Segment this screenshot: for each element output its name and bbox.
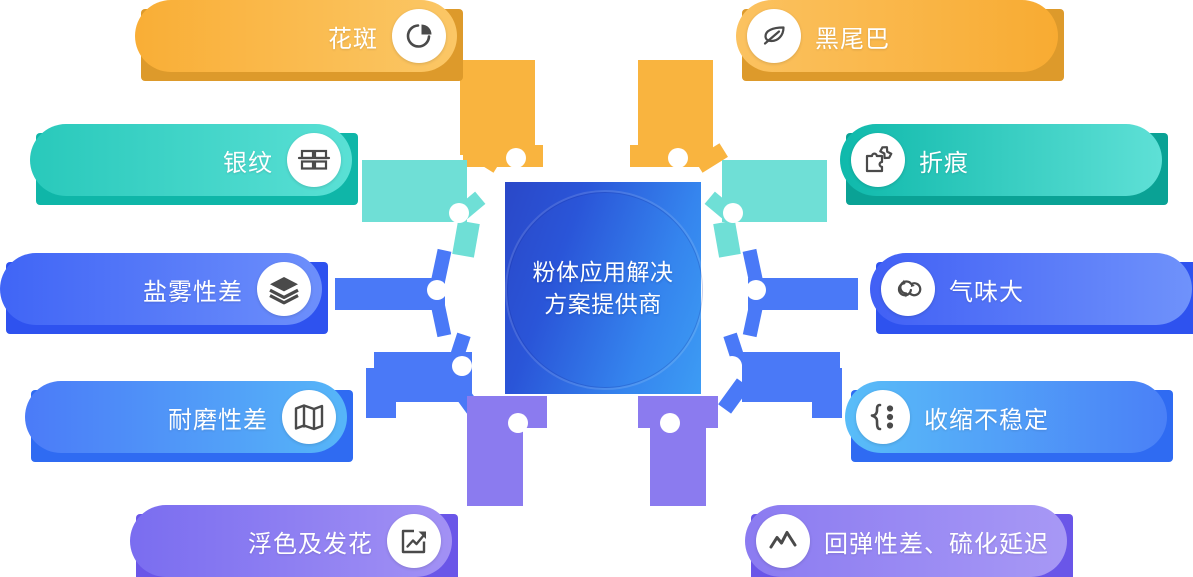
label-pill-right-1[interactable]: 黑尾巴 [736, 0, 1058, 72]
infographic-canvas: 粉体应用解决 方案提供商 花斑银纹盐雾性差耐磨性差浮色及发花黑尾巴折痕气味大收缩… [0, 0, 1193, 577]
connector-right-5-dot [660, 413, 680, 433]
pill-label: 花斑 [328, 19, 378, 54]
connector-right-4-arm2 [812, 368, 842, 418]
connector-left-4-dot [452, 356, 472, 376]
connector-left-3-tip2 [431, 303, 451, 337]
connector-right-2-tip2 [713, 220, 741, 257]
pill-body[interactable]: 银纹 [30, 124, 352, 196]
pie-chart-icon [392, 9, 446, 63]
connector-right-3-dot [746, 280, 766, 300]
pill-body[interactable]: 气味大 [870, 253, 1192, 325]
pill-body[interactable]: 耐磨性差 [25, 381, 347, 453]
center-node: 粉体应用解决 方案提供商 [505, 182, 701, 394]
puzzle-icon [851, 133, 905, 187]
pill-label: 耐磨性差 [168, 400, 268, 435]
label-pill-left-1[interactable]: 花斑 [135, 0, 457, 72]
pill-label: 气味大 [949, 272, 1024, 307]
connector-left-2-tip2 [452, 220, 480, 257]
layers-icon [257, 262, 311, 316]
pill-body[interactable]: 浮色及发花 [130, 505, 452, 577]
line-chart-icon [756, 514, 810, 568]
label-pill-left-4[interactable]: 耐磨性差 [25, 381, 347, 453]
connector-left-5-dot [508, 413, 528, 433]
center-node-label: 粉体应用解决 方案提供商 [533, 256, 674, 320]
pill-label: 黑尾巴 [815, 19, 890, 54]
pill-body[interactable]: 收缩不稳定 [845, 381, 1167, 453]
connector-left-1-stem [460, 60, 535, 155]
label-pill-right-3[interactable]: 气味大 [870, 253, 1192, 325]
pill-label: 盐雾性差 [143, 272, 243, 307]
connector-left-3-dot [427, 280, 447, 300]
label-pill-right-4[interactable]: 收缩不稳定 [845, 381, 1167, 453]
connector-right-1-stem [638, 60, 713, 155]
connector-left-5-arm [467, 396, 547, 428]
connector-right-1-dot [668, 148, 688, 168]
label-pill-left-3[interactable]: 盐雾性差 [0, 253, 322, 325]
connector-left-1-dot [506, 148, 526, 168]
connector-left-4-arm2 [366, 368, 396, 418]
label-pill-right-5[interactable]: 回弹性差、硫化延迟 [745, 505, 1067, 577]
pill-body[interactable]: 花斑 [135, 0, 457, 72]
label-pill-right-2[interactable]: 折痕 [840, 124, 1162, 196]
recycle-icon [881, 262, 935, 316]
brick-wall-icon [287, 133, 341, 187]
trend-up-box-icon [387, 514, 441, 568]
pill-label: 收缩不稳定 [924, 400, 1049, 435]
pill-body[interactable]: 黑尾巴 [736, 0, 1058, 72]
connector-right-2-dot [723, 203, 743, 223]
pill-body[interactable]: 折痕 [840, 124, 1162, 196]
pill-label: 银纹 [223, 143, 273, 178]
connector-right-4-dot [722, 356, 742, 376]
map-icon [282, 390, 336, 444]
label-pill-left-5[interactable]: 浮色及发花 [130, 505, 452, 577]
connector-right-3-tip2 [743, 303, 763, 337]
label-pill-left-2[interactable]: 银纹 [30, 124, 352, 196]
leaf-icon [747, 9, 801, 63]
connector-left-2-dot [449, 203, 469, 223]
node-tree-icon [856, 390, 910, 444]
pill-label: 折痕 [919, 143, 969, 178]
pill-label: 浮色及发花 [248, 524, 373, 559]
pill-body[interactable]: 盐雾性差 [0, 253, 322, 325]
pill-label: 回弹性差、硫化延迟 [824, 524, 1049, 559]
pill-body[interactable]: 回弹性差、硫化延迟 [745, 505, 1067, 577]
